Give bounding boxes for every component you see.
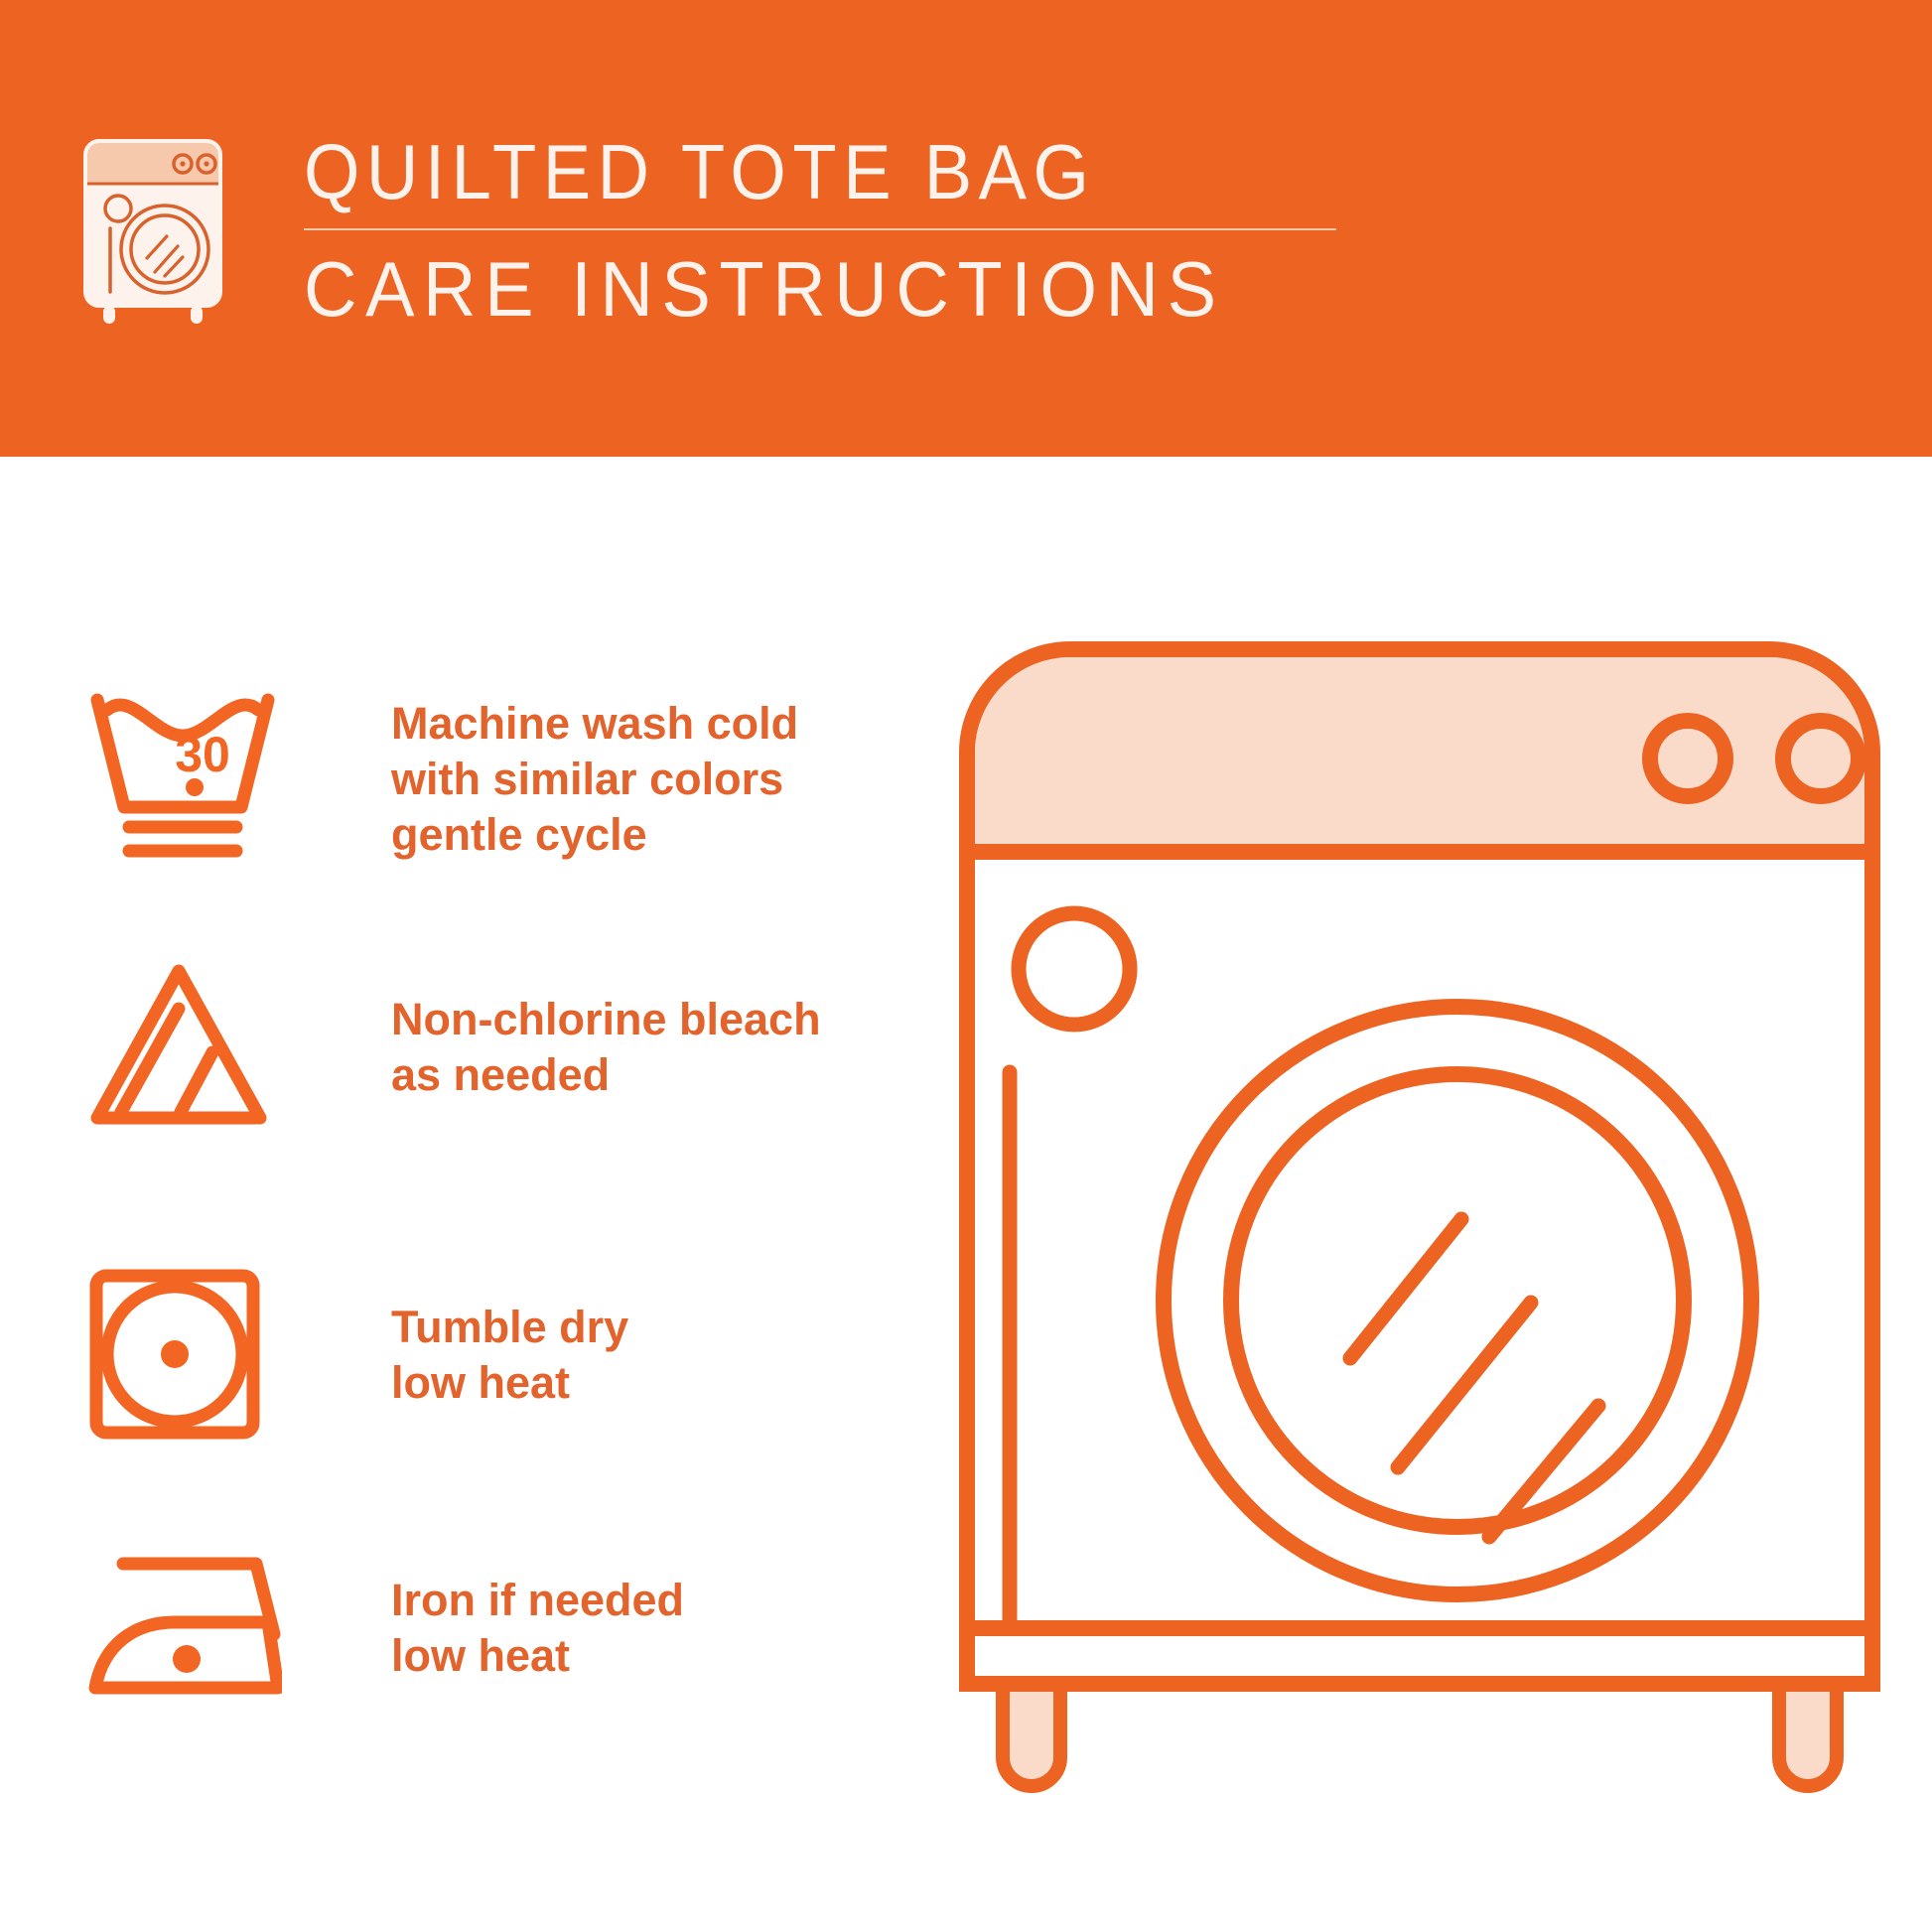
non-chlorine-bleach-triangle-icon [83, 953, 282, 1142]
care-row-tumble-dry: Tumble dry low heat [83, 1261, 937, 1449]
tumble-dry-low-icon [83, 1261, 282, 1449]
care-label-machine-wash: Machine wash cold with similar colors ge… [391, 696, 798, 863]
wash-temperature-label: 30 [175, 727, 230, 782]
care-row-iron: Iron if needed low heat [83, 1534, 937, 1723]
header-content: QUILTED TOTE BAG CARE INSTRUCTIONS [77, 129, 1336, 332]
washing-machine-icon [77, 137, 236, 326]
header-titles: QUILTED TOTE BAG CARE INSTRUCTIONS [304, 129, 1336, 332]
page-subtitle: CARE INSTRUCTIONS [304, 246, 1285, 332]
title-divider [304, 228, 1336, 230]
care-label-tumble-dry: Tumble dry low heat [391, 1300, 628, 1411]
header-banner: QUILTED TOTE BAG CARE INSTRUCTIONS [0, 0, 1932, 457]
iron-low-heat-icon [83, 1534, 282, 1723]
care-row-bleach: Non-chlorine bleach as needed [83, 953, 937, 1142]
washing-machine-illustration [953, 635, 1886, 1827]
wash-tub-30-icon: 30 [83, 685, 282, 874]
care-label-bleach: Non-chlorine bleach as needed [391, 992, 821, 1103]
care-row-machine-wash: 30 Machine wash cold with similar colors… [83, 685, 937, 874]
care-label-iron: Iron if needed low heat [391, 1573, 684, 1684]
page-title: QUILTED TOTE BAG [304, 129, 1264, 214]
